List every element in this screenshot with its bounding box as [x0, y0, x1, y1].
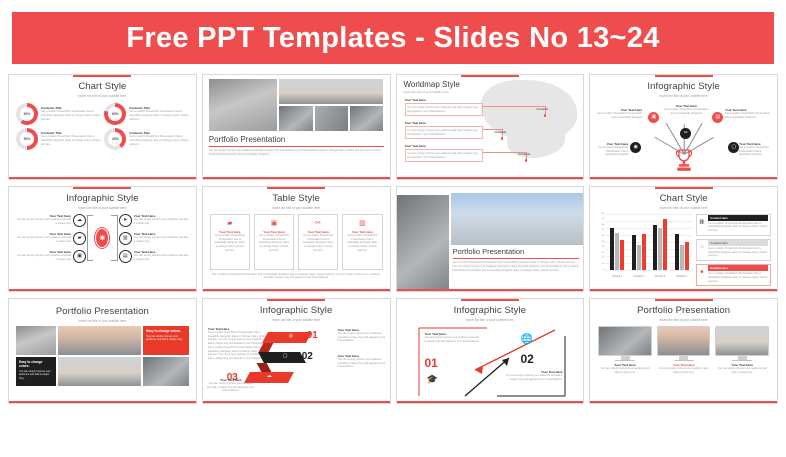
column-body: Get a modern PowerPoint Presentation tha… — [302, 234, 334, 253]
bar — [620, 240, 624, 269]
photo-skyline-sunset — [58, 326, 141, 355]
accent-bar-bottom — [590, 289, 777, 291]
step-number: 02 — [302, 351, 313, 362]
legend-body: Get a modern PowerPoint Presentation tha… — [708, 247, 768, 258]
bag-icon: ▰ — [214, 220, 246, 227]
photo-harbor-sunset — [715, 326, 769, 356]
donut-item: 60% Contents Title Get a modern PowerPoi… — [16, 103, 100, 125]
map-dot — [544, 114, 547, 117]
bar-group — [653, 214, 667, 270]
monitor-base — [732, 360, 752, 362]
calendar-icon: ▤ — [119, 250, 132, 263]
accent-bar-bottom — [397, 177, 584, 179]
gear-node: ▤ Your Text Here You can simply impress … — [119, 250, 190, 263]
map-label: Contents — [537, 108, 549, 111]
monitor-stand — [679, 356, 688, 360]
node-text: Your Text Here Get a modern PowerPoint P… — [739, 142, 773, 158]
monitor-stand — [621, 356, 630, 360]
tile-heading: Easy to change colors. — [19, 360, 53, 368]
slide-body: You can simply impress your audience and… — [203, 149, 390, 157]
photo-bridge — [350, 106, 383, 131]
x-tick-label: Content 2 — [633, 275, 643, 278]
photo-night-city — [315, 106, 348, 131]
monitor-item: Your Text Here You can simply impress yo… — [598, 326, 652, 375]
table-columns: ▰ Your Text Here Get a modern PowerPoint… — [203, 210, 390, 270]
accent-bar — [655, 187, 713, 189]
target-icon: ◎ — [289, 333, 293, 339]
photo-city-aerial — [209, 79, 277, 131]
camera-icon: ▥ — [697, 215, 706, 225]
slide-body: Get a modern PowerPoint Presentation tha… — [453, 261, 580, 272]
y-axis: 100 90 80 70 60 50 40 30 20 10 0 — [596, 214, 605, 270]
slide-thumbnail-monitor-mockups[interactable]: Portfolio Presentation Insert the title … — [589, 298, 778, 404]
photo-buildings — [279, 106, 312, 131]
table-footer: Get a modern PowerPoint Presentation tha… — [203, 270, 390, 281]
legend-heading: Content Here — [708, 215, 768, 221]
bar — [675, 234, 679, 269]
tile-body: You can simply impress your audience and… — [146, 335, 186, 343]
balance-icon: ⚖ — [697, 240, 706, 250]
text-tile-red: Easy to change colors. You can simply im… — [143, 326, 189, 355]
table-column: ▥ Your Text Here Get a modern PowerPoint… — [342, 214, 382, 270]
chart-legend: ▥ Content Here Get a modern PowerPoint P… — [696, 214, 771, 287]
slide-thumbnail-infographic-ribbon[interactable]: Infographic Style Insert the title of yo… — [202, 298, 391, 404]
x-tick-label: Content 1 — [612, 275, 622, 278]
title-rule — [209, 146, 384, 147]
slide-thumbnail-worldmap[interactable]: Worldmap Style Insert the title of your … — [396, 74, 585, 180]
slide-title: Infographic Style — [9, 193, 196, 204]
monitor-item: Your Text Here You can simply impress yo… — [657, 326, 711, 375]
step-text: Your Text Here You can simply impress yo… — [207, 378, 255, 394]
row-heading: Your Text Here — [405, 144, 483, 148]
donut-body: Get a modern PowerPoint Presentation tha… — [129, 110, 188, 121]
slide-title: Infographic Style — [203, 305, 390, 316]
title-rule — [453, 258, 580, 259]
tile-heading: Easy to change colors. — [146, 329, 186, 333]
header-banner: Free PPT Templates - Slides No 13~24 — [12, 12, 774, 64]
node-text: Your Text Here Get a modern PowerPoint P… — [594, 108, 642, 120]
slide-thumbnail-portfolio-collage[interactable]: Portfolio Presentation You can simply im… — [202, 74, 391, 180]
accent-bar-bottom — [9, 401, 196, 403]
step-text: Your Text Here You can simply impress yo… — [338, 328, 386, 344]
accent-bar — [267, 299, 325, 301]
bar-group — [632, 214, 646, 270]
bar — [663, 219, 667, 269]
donut-chart: 80% — [104, 103, 126, 125]
accent-bar-bottom — [203, 289, 390, 291]
accent-bar-bottom — [590, 401, 777, 403]
legend-card: ⚖ Content Here Get a modern PowerPoint P… — [696, 239, 771, 261]
bar — [632, 235, 636, 270]
monitor-base — [674, 360, 694, 362]
row-body: You can simply impress your audience and… — [405, 103, 483, 116]
slide-title: Portfolio Presentation — [9, 306, 196, 317]
trophy-icon — [674, 148, 694, 172]
row-body: You can simply impress your audience and… — [405, 126, 483, 139]
worldmap-row: Your Text Here You can simply impress yo… — [405, 144, 483, 162]
table-column: ▣ Your Text Here Get a modern PowerPoint… — [254, 214, 294, 270]
donut-chart: 40% — [104, 128, 126, 150]
step-number: 01 — [307, 330, 318, 341]
slide-title: Portfolio Presentation — [453, 247, 580, 256]
bar — [610, 228, 614, 270]
bar — [680, 245, 684, 269]
slides-overview-page: Free PPT Templates - Slides No 13~24 Cha… — [0, 12, 786, 457]
donut-value: 50% — [16, 128, 38, 150]
bars — [606, 214, 692, 270]
document-icon: ▢ — [728, 142, 739, 153]
monitor-item: Your Text Here You can simply impress yo… — [715, 326, 769, 375]
column-body: Get a modern PowerPoint Presentation tha… — [346, 234, 378, 253]
accent-bar — [655, 75, 713, 77]
photo-grid: Easy to change colors. You can simply im… — [9, 323, 196, 386]
slide-title: Chart Style — [9, 81, 196, 92]
block-number: 02 — [521, 352, 534, 366]
slide-title: Chart Style — [590, 193, 777, 204]
column-body: Get a modern PowerPoint Presentation tha… — [214, 234, 246, 253]
square-icon: ■ — [697, 265, 706, 275]
camera-icon: ▥ — [119, 232, 132, 245]
bar — [658, 228, 662, 269]
ribbon-step-1 — [262, 332, 312, 343]
slide-thumbnail-table-style[interactable]: Table Style Insert the title of your sub… — [202, 186, 391, 292]
ribbon-fold-2 — [256, 363, 271, 372]
accent-bar — [655, 299, 713, 301]
legend-heading: Content Here — [708, 240, 768, 246]
column-body: Get a modern PowerPoint Presentation tha… — [258, 234, 290, 253]
x-tick-label: Content 3 — [655, 275, 665, 278]
graduation-cap-icon: 🎓 — [427, 374, 438, 385]
camera-icon: ▥ — [346, 220, 378, 227]
plot-area: 100 90 80 70 60 50 40 30 20 10 0 — [596, 214, 692, 278]
ribbon-step-2 — [258, 352, 306, 363]
worldmap-row: Your Text Here You can simply impress yo… — [405, 121, 483, 139]
table-column: ▰ Your Text Here Get a modern PowerPoint… — [210, 214, 250, 270]
slide-thumbnail-portfolio-hero[interactable]: Portfolio Presentation Get a modern Powe… — [396, 186, 585, 292]
arrow-block-text: Your Text Here You can simply impress yo… — [425, 332, 481, 344]
photo-skyscraper-sky — [451, 193, 584, 245]
slide-title: Table Style — [203, 193, 390, 204]
cloud-icon: ☁ — [267, 373, 272, 379]
gear-node: ➤ Your Text Here You can simply impress … — [119, 214, 190, 227]
gear-node: Your Text Here You can simply impress yo… — [15, 250, 86, 263]
gear-node: Your Text Here You can simply impress yo… — [15, 214, 86, 227]
monitor-stand — [738, 356, 747, 360]
photo-buildings — [143, 357, 189, 386]
legend-body: Get a modern PowerPoint Presentation tha… — [708, 222, 768, 233]
photo-tower — [16, 326, 56, 355]
slide-title: Portfolio Presentation — [203, 131, 390, 144]
map-dot — [525, 159, 528, 162]
slide-thumbnail-chart-style-bar[interactable]: Chart Style Insert the title of your sub… — [589, 186, 778, 292]
photo-skyline-bridge — [279, 79, 383, 104]
bar — [637, 245, 641, 270]
row-heading: Your Text Here — [405, 121, 483, 125]
image-icon: ▣ — [258, 220, 290, 227]
row-heading: Your Text Here — [405, 98, 483, 102]
bar — [642, 234, 646, 269]
slide-title: Portfolio Presentation — [590, 305, 777, 316]
monitor-list: Your Text Here You can simply impress yo… — [590, 322, 777, 375]
accent-bar-bottom — [9, 177, 196, 179]
tools-icon: ✂ — [302, 220, 334, 227]
monitor-body: You can simply impress your audience and… — [715, 367, 769, 375]
worldmap-row: Your Text Here You can simply impress yo… — [405, 98, 483, 116]
slide-thumbnail-infographic-arrows[interactable]: Infographic Style Insert the title of yo… — [396, 298, 585, 404]
photo-bridge-dusk — [58, 357, 141, 386]
donut-item: 80% Contents Title Get a modern PowerPoi… — [104, 103, 188, 125]
photo-collage — [203, 75, 390, 131]
target-icon: ◉ — [630, 142, 641, 153]
accent-bar-bottom — [203, 177, 390, 179]
book-icon: ▤ — [712, 112, 723, 123]
map-label: Contents — [495, 131, 507, 134]
monitor-body: You can simply impress your audience and… — [657, 367, 711, 375]
legend-heading: Content Here — [708, 265, 768, 271]
donut-body: Get a modern PowerPoint Presentation tha… — [41, 110, 100, 121]
donut-list: 60% Contents Title Get a modern PowerPoi… — [9, 98, 196, 150]
donut-body: Get a modern PowerPoint Presentation tha… — [129, 135, 188, 146]
gear-node: ▥ Your Text Here You can simply impress … — [119, 232, 190, 245]
x-axis: Content 1 Content 2 Content 3 Content 4 — [606, 275, 692, 278]
map-label: Contents — [519, 153, 531, 156]
text-tile-black: Easy to change colors. You can simply im… — [16, 357, 56, 386]
donut-body: Get a modern PowerPoint Presentation tha… — [41, 135, 100, 146]
accent-bar-bottom — [203, 401, 390, 403]
globe-icon: 🌐 — [521, 334, 533, 345]
world-map: Your Text Here You can simply impress yo… — [397, 94, 584, 172]
slide-title: Infographic Style — [590, 81, 777, 92]
bar — [685, 242, 689, 270]
tools-icon: ✂ — [680, 128, 691, 139]
slide-thumbnail-infographic-gear[interactable]: Infographic Style Insert the title of yo… — [8, 186, 197, 292]
accent-bar — [73, 75, 131, 77]
monitor-base — [615, 360, 635, 362]
slide-title: Infographic Style — [397, 305, 584, 316]
table-column: ✂ Your Text Here Get a modern PowerPoint… — [298, 214, 338, 270]
legend-body: Get a modern PowerPoint Presentation tha… — [708, 272, 768, 283]
node-text: Your Text Here Get a modern PowerPoint P… — [725, 108, 773, 120]
donut-value: 80% — [104, 103, 126, 125]
donut-value: 40% — [104, 128, 126, 150]
legend-card: ■ Content Here Get a modern PowerPoint P… — [696, 264, 771, 286]
photo-city-street — [397, 195, 449, 291]
bar — [653, 225, 657, 270]
tile-body: You can simply impress your audience and… — [19, 370, 53, 381]
legend-card: ▥ Content Here Get a modern PowerPoint P… — [696, 214, 771, 236]
gear-icon: ✷ — [95, 228, 109, 248]
map-dot — [501, 137, 504, 140]
bar-group — [675, 214, 689, 270]
slide-thumbnail-infographic-trophy[interactable]: Infographic Style Insert the title of yo… — [589, 74, 778, 180]
slide-thumbnail-chart-style-donut[interactable]: Chart Style Insert the title of your sub… — [8, 74, 197, 180]
step-text: Your Text Here You can simply impress yo… — [338, 354, 386, 370]
donut-item: 50% Contents Title Get a modern PowerPoi… — [16, 128, 100, 150]
accent-bar-bottom — [9, 289, 196, 291]
cloud-icon: ☁ — [73, 214, 86, 227]
accent-bar — [461, 299, 519, 301]
arrow-block-text: Your Text Here You can simply impress yo… — [501, 370, 563, 382]
image-icon: ▣ — [648, 112, 659, 123]
rocket-icon: ➤ — [119, 214, 132, 227]
accent-bar-bottom — [397, 401, 584, 403]
monitor-icon: ▣ — [73, 250, 86, 263]
banner-title: Free PPT Templates - Slides No 13~24 — [126, 22, 659, 55]
document-icon: ▢ — [283, 353, 288, 359]
row-body: You can simply impress your audience and… — [405, 149, 483, 162]
block-number: 01 — [425, 356, 438, 370]
donut-item: 40% Contents Title Get a modern PowerPoi… — [104, 128, 188, 150]
gear-node: Your Text Here You can simply impress yo… — [15, 232, 86, 245]
bar-chart: 100 90 80 70 60 50 40 30 20 10 0 — [590, 210, 777, 287]
slide-grid: Chart Style Insert the title of your sub… — [6, 74, 780, 404]
bar — [615, 233, 619, 270]
photo-golden-gate — [657, 326, 711, 356]
bag-icon: ▰ — [73, 232, 86, 245]
accent-bar-bottom — [590, 177, 777, 179]
accent-bar — [73, 187, 131, 189]
accent-bar-bottom — [397, 289, 584, 291]
accent-bar — [461, 75, 519, 77]
node-text: Your Text Here Get a modern PowerPoint P… — [594, 142, 628, 158]
node-text: Your Text Here Get a modern PowerPoint P… — [663, 104, 709, 116]
photo-city-skyline — [598, 326, 652, 356]
donut-value: 60% — [16, 103, 38, 125]
slide-thumbnail-portfolio-grid[interactable]: Portfolio Presentation Insert the title … — [8, 298, 197, 404]
x-tick-label: Content 4 — [676, 275, 686, 278]
donut-chart: 60% — [16, 103, 38, 125]
donut-chart: 50% — [16, 128, 38, 150]
bar-group — [610, 214, 624, 270]
monitor-body: You can simply impress your audience and… — [598, 367, 652, 375]
accent-bar — [267, 187, 325, 189]
